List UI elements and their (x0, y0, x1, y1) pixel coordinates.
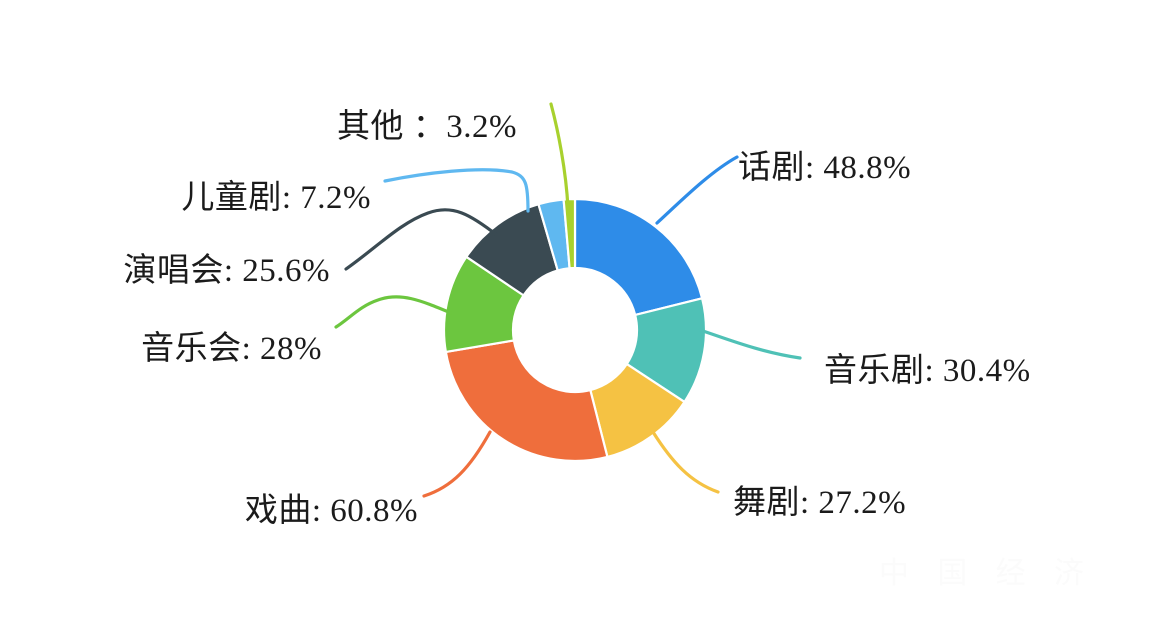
donut-chart-svg: 话剧: 48.8% 音乐剧: 30.4% 舞剧: 27.2% 戏曲: 60.8%… (0, 0, 1170, 620)
slice-label-qita: 其他 ：3.2% (337, 108, 517, 145)
leader-line-wuju (653, 432, 718, 492)
leader-line-huaju (657, 157, 737, 223)
slice-label-huaju: 话剧: 48.8% (738, 150, 911, 186)
leader-line-yinyuehui (336, 297, 451, 327)
slice-label-yinyueju: 音乐剧: 30.4% (824, 352, 1031, 389)
donut-slice-0[interactable] (575, 199, 702, 315)
donut-slice-3[interactable] (446, 340, 608, 461)
leader-line-qita (551, 104, 568, 208)
leader-line-yinyueju (700, 330, 800, 358)
slice-label-wuju: 舞剧: 27.2% (733, 485, 906, 521)
leader-line-xiqu (424, 432, 490, 496)
slice-labels-group: 话剧: 48.8% 音乐剧: 30.4% 舞剧: 27.2% 戏曲: 60.8%… (123, 108, 1030, 529)
donut-chart-figure: 话剧: 48.8% 音乐剧: 30.4% 舞剧: 27.2% 戏曲: 60.8%… (0, 0, 1170, 620)
slice-label-ertongju: 儿童剧: 7.2% (181, 179, 371, 216)
leader-line-ertongju (385, 170, 528, 211)
slice-label-yanchanghui: 演唱会: 25.6% (123, 252, 330, 289)
slice-label-yinyuehui: 音乐会: 28% (141, 330, 322, 367)
watermark-text: 中 国 经 济 (879, 548, 1094, 592)
slice-label-xiqu: 戏曲: 60.8% (245, 493, 418, 529)
donut-slices-group (444, 199, 706, 461)
